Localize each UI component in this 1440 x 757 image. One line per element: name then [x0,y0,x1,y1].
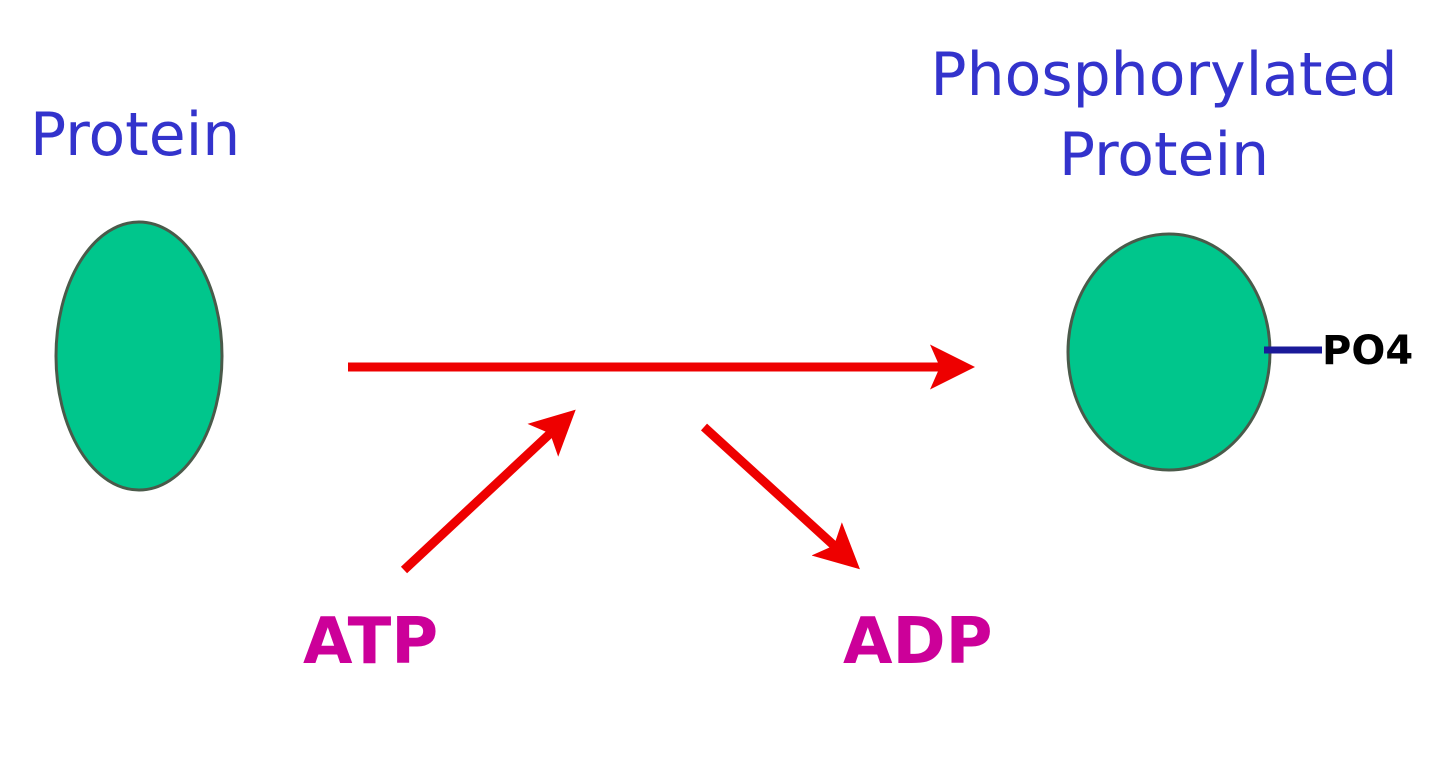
diagram-canvas: Protein Phosphorylated Protein PO4 ATP A… [0,0,1440,757]
adp-output-arrow [704,427,840,551]
atp-label: ATP [303,605,438,679]
phosphorylated-protein-shape [1068,234,1270,470]
adp-label: ADP [843,605,993,679]
protein-shape [56,222,222,490]
atp-input-arrow [404,428,556,570]
phosphate-group-label: PO4 [1322,328,1413,374]
phosphorylation-diagram: Protein Phosphorylated Protein PO4 ATP A… [0,0,1440,757]
protein-label: Protein [30,100,240,170]
phosphorylated-protein-label-line2: Protein [1059,120,1269,190]
phosphorylated-protein-label-line1: Phosphorylated [930,40,1397,110]
